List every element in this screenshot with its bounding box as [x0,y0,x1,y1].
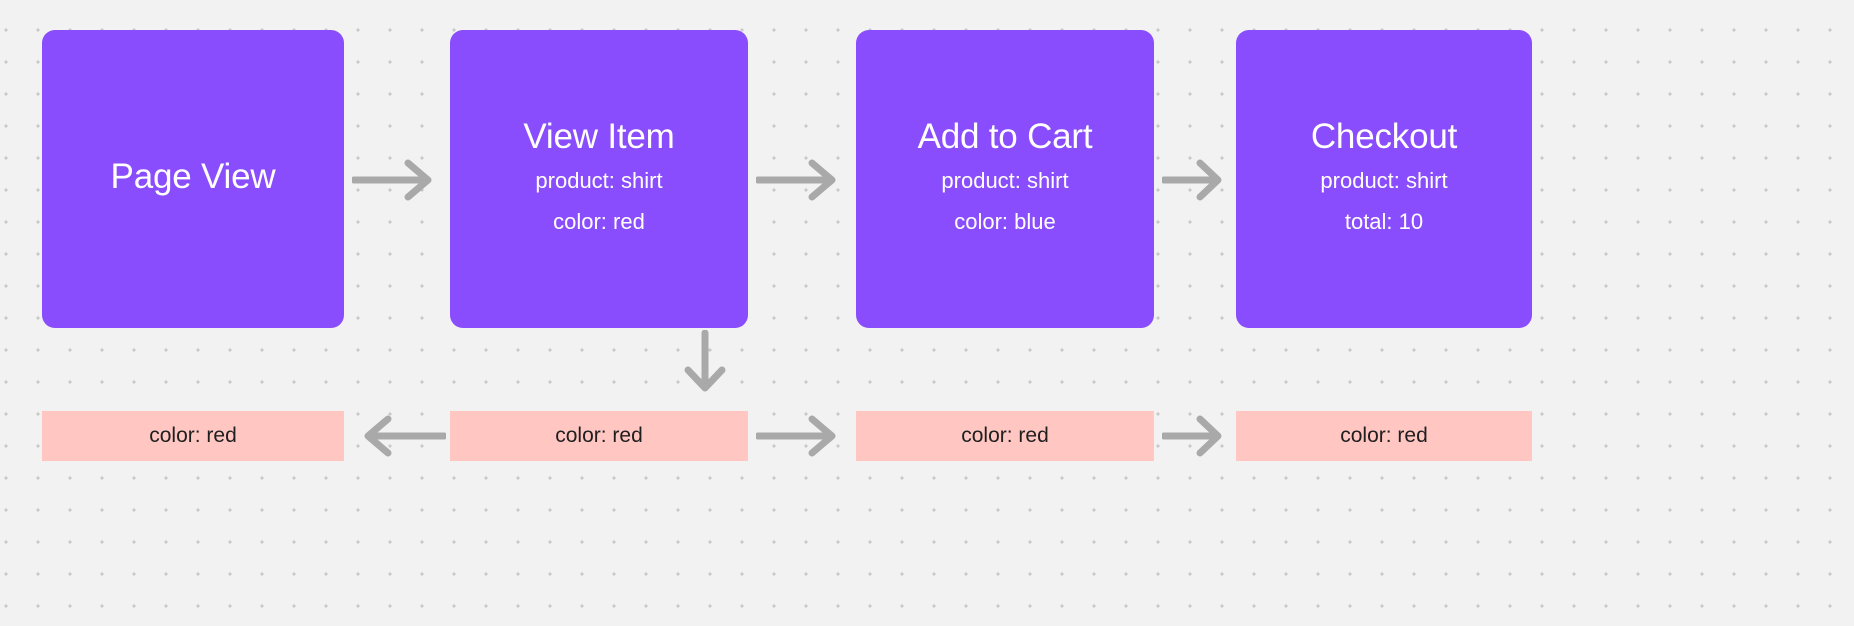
event-node-view-item[interactable]: View Item product: shirt color: red [450,30,748,328]
event-node-attributes: product: shirt color: blue [941,161,1068,242]
property-node-label: color: red [961,424,1049,448]
arrow-right-icon [756,412,848,460]
event-node-checkout[interactable]: Checkout product: shirt total: 10 [1236,30,1532,328]
property-node-color-red-2[interactable]: color: red [450,411,748,461]
event-attribute: product: shirt [535,161,662,202]
event-node-title: Checkout [1311,116,1457,157]
property-node-label: color: red [1340,424,1428,448]
event-node-add-to-cart[interactable]: Add to Cart product: shirt color: blue [856,30,1154,328]
arrow-right-icon [352,156,444,204]
event-attribute: color: blue [954,202,1056,243]
event-node-page-view[interactable]: Page View [42,30,344,328]
property-node-label: color: red [149,424,237,448]
arrow-right-icon [1162,412,1234,460]
event-attribute: product: shirt [1320,161,1447,202]
event-node-title: View Item [523,116,674,157]
arrow-down-icon [672,330,738,400]
property-node-color-red-1[interactable]: color: red [42,411,344,461]
event-node-attributes: product: shirt color: red [535,161,662,242]
arrow-right-icon [1162,156,1234,204]
event-attribute: color: red [553,202,645,243]
arrow-left-icon [348,412,446,460]
property-node-color-red-3[interactable]: color: red [856,411,1154,461]
event-node-attributes: product: shirt total: 10 [1320,161,1447,242]
event-node-title: Add to Cart [918,116,1093,157]
diagram-canvas: Page View View Item product: shirt color… [0,0,1854,626]
arrow-right-icon [756,156,848,204]
event-attribute: total: 10 [1345,202,1423,243]
property-node-label: color: red [555,424,643,448]
property-node-color-red-4[interactable]: color: red [1236,411,1532,461]
event-attribute: product: shirt [941,161,1068,202]
event-node-title: Page View [111,156,276,197]
